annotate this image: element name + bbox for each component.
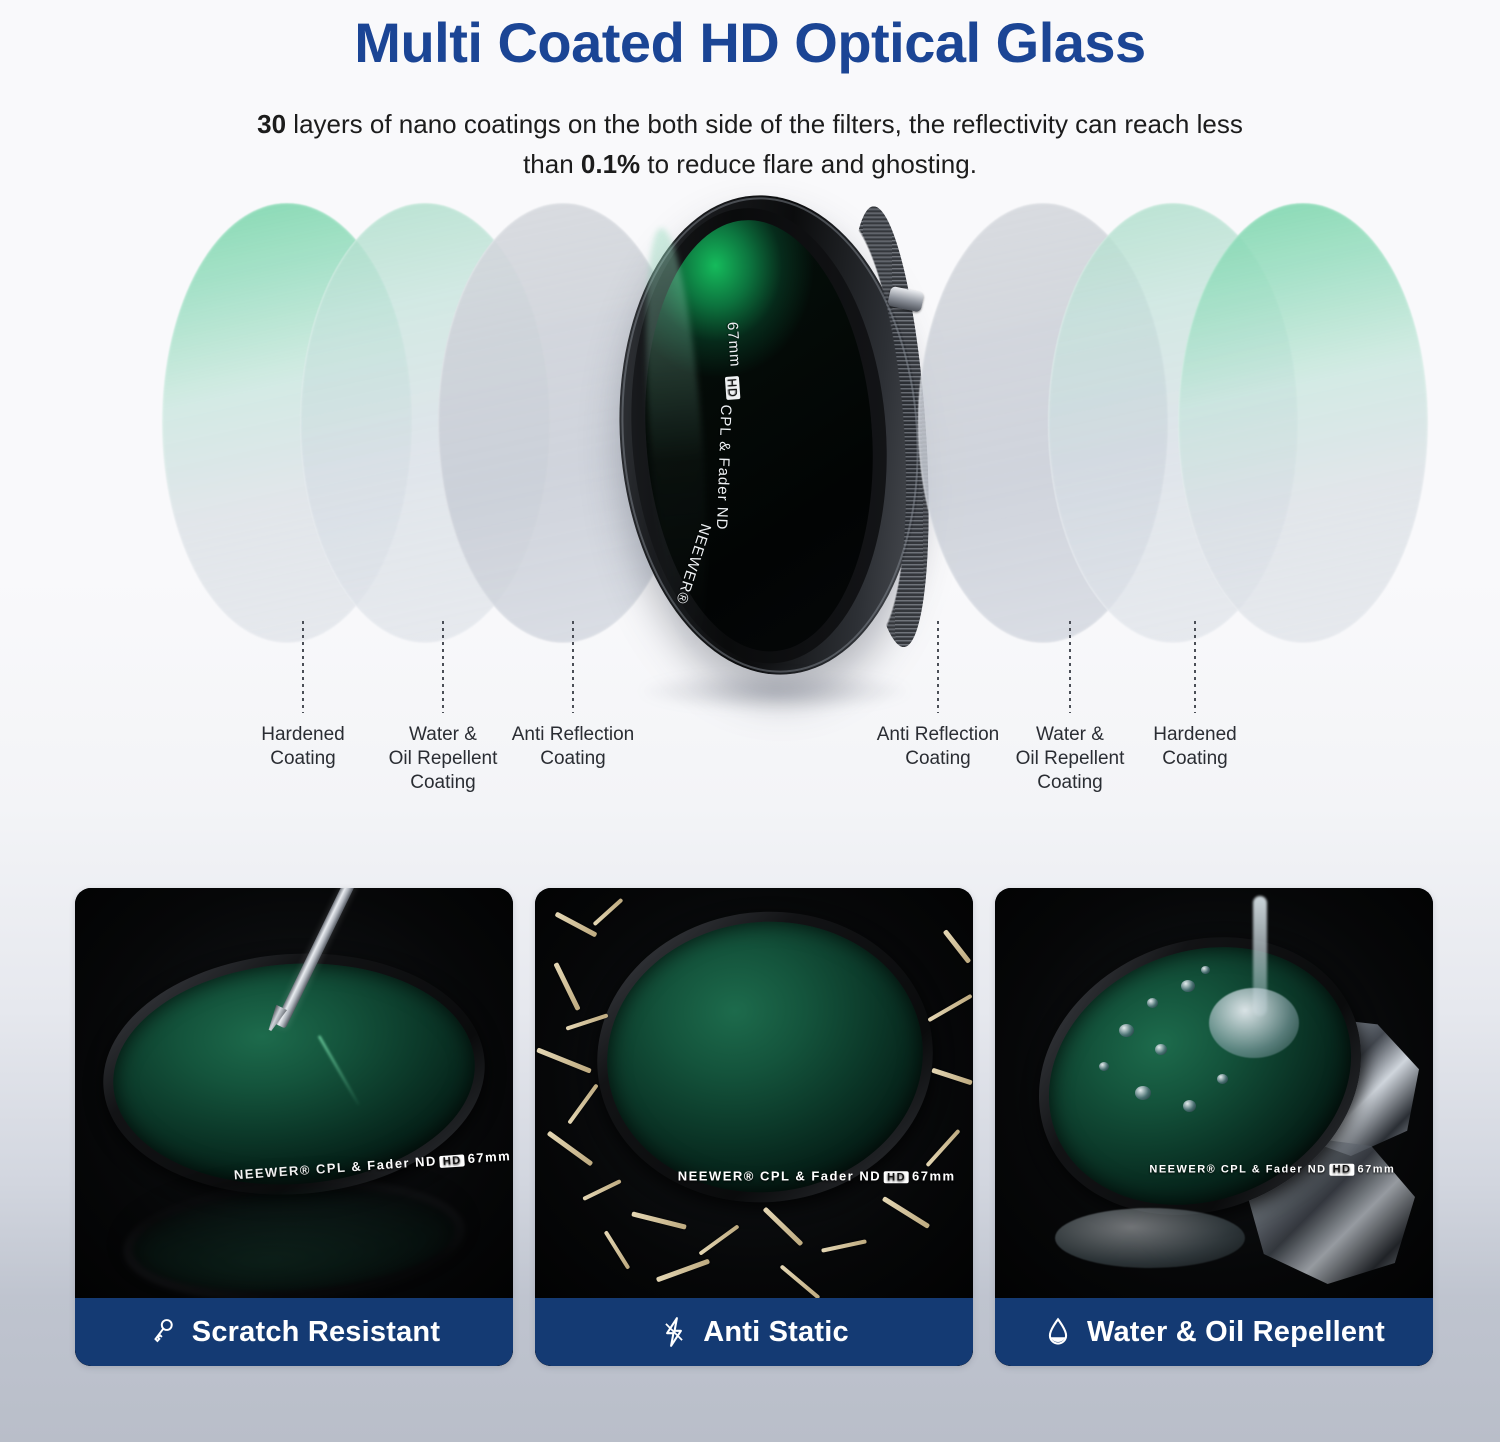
page-subtitle: 30 layers of nano coatings on the both s… xyxy=(250,104,1250,185)
callout-dotted-line xyxy=(442,621,444,713)
card-label-water: Water & Oil Repellent xyxy=(1087,1316,1385,1349)
water-bead xyxy=(1135,1086,1151,1100)
card-banner-antistatic: Anti Static xyxy=(535,1298,973,1366)
water-pool xyxy=(1055,1208,1245,1268)
feature-card-water-oil-repellent[interactable]: NEEWER® CPL & Fader NDHD67mm xyxy=(995,888,1433,1366)
callout-line-2: Coating xyxy=(1110,747,1280,771)
water-drop-icon xyxy=(1043,1316,1073,1348)
callout-line-2: Coating xyxy=(488,747,658,771)
callout-dotted-line xyxy=(1194,621,1196,713)
card-label-scratch: Scratch Resistant xyxy=(192,1316,440,1349)
callout-group: Hardened Coating Water & Oil Repellent C… xyxy=(0,621,1500,821)
key-scratch-icon xyxy=(148,1316,178,1348)
lens-hd-badge: HD xyxy=(440,1154,466,1168)
card-label-antistatic: Anti Static xyxy=(703,1316,849,1349)
water-bead xyxy=(1099,1062,1109,1071)
subtitle-text-2: to reduce flare and ghosting. xyxy=(640,149,977,179)
card-photo-antistatic: NEEWER® CPL & Fader NDHD67mm xyxy=(535,888,973,1366)
filter-ring-engraving: 67mm HD CPL & Fader ND NEEWER® xyxy=(714,304,931,567)
callout-antireflection-left: Anti Reflection Coating xyxy=(488,621,658,772)
lens-size: 67mm xyxy=(912,1168,956,1183)
water-splash xyxy=(1209,988,1299,1058)
header: Multi Coated HD Optical Glass 30 layers … xyxy=(0,0,1500,185)
lens-size: 67mm xyxy=(467,1148,512,1166)
lens-hd-badge: HD xyxy=(884,1171,909,1183)
callout-hardened-right: Hardened Coating xyxy=(1110,621,1280,772)
lens-engraving: NEEWER® CPL & Fader NDHD67mm xyxy=(1149,1164,1395,1176)
callout-dotted-line xyxy=(302,621,304,713)
ring-size-text: 67mm xyxy=(724,321,744,368)
callout-dotted-line xyxy=(1069,621,1071,713)
callout-dotted-line xyxy=(937,621,939,713)
water-bead xyxy=(1181,980,1195,992)
lens-hd-badge: HD xyxy=(1330,1164,1355,1176)
card-banner-scratch: Scratch Resistant xyxy=(75,1298,513,1366)
water-bead xyxy=(1155,1044,1167,1055)
callout-dotted-line xyxy=(572,621,574,713)
subtitle-bold-reflectivity: 0.1% xyxy=(581,149,640,179)
page-title: Multi Coated HD Optical Glass xyxy=(0,8,1500,78)
card-photo-water: NEEWER® CPL & Fader NDHD67mm xyxy=(995,888,1433,1366)
callout-line-3: Coating xyxy=(358,771,528,795)
callout-label: Anti Reflection Coating xyxy=(488,723,658,772)
lens-size: 67mm xyxy=(1357,1164,1395,1176)
card-photo-scratch: NEEWER® CPL & Fader NDHD67mm xyxy=(75,888,513,1366)
feature-cards: NEEWER® CPL & Fader NDHD67mm Scratch Res… xyxy=(75,888,1433,1366)
exploded-filter-diagram: 67mm HD CPL & Fader ND NEEWER® Hardened … xyxy=(0,203,1500,823)
water-bead xyxy=(1217,1074,1228,1084)
lens-type: CPL & Fader ND xyxy=(760,1168,881,1183)
coating-layer-hardened-right xyxy=(1178,203,1428,643)
callout-label: Hardened Coating xyxy=(1110,723,1280,772)
card-banner-water: Water & Oil Repellent xyxy=(995,1298,1433,1366)
lens-brand: NEEWER® xyxy=(678,1168,755,1183)
ring-hd-badge: HD xyxy=(725,376,741,400)
callout-line-1: Anti Reflection xyxy=(488,723,658,747)
ring-type-text: CPL & Fader ND xyxy=(713,404,734,531)
subtitle-bold-layers: 30 xyxy=(257,109,286,139)
water-bead xyxy=(1183,1100,1196,1112)
lens-engraving: NEEWER® CPL & Fader NDHD67mm xyxy=(678,1168,956,1183)
feature-card-scratch-resistant[interactable]: NEEWER® CPL & Fader NDHD67mm Scratch Res… xyxy=(75,888,513,1366)
feature-card-anti-static[interactable]: NEEWER® CPL & Fader NDHD67mm xyxy=(535,888,973,1366)
lightning-bolt-icon xyxy=(659,1316,689,1348)
water-bead xyxy=(1147,998,1158,1008)
water-bead xyxy=(1119,1024,1134,1037)
water-bead xyxy=(1201,966,1210,974)
callout-line-1: Hardened xyxy=(1110,723,1280,747)
nd-cpl-filter-product: 67mm HD CPL & Fader ND NEEWER® xyxy=(604,185,937,685)
callout-line-3: Coating xyxy=(985,771,1155,795)
lens-brand: NEEWER® xyxy=(1149,1164,1216,1176)
lens-type: CPL & Fader ND xyxy=(1221,1164,1327,1176)
